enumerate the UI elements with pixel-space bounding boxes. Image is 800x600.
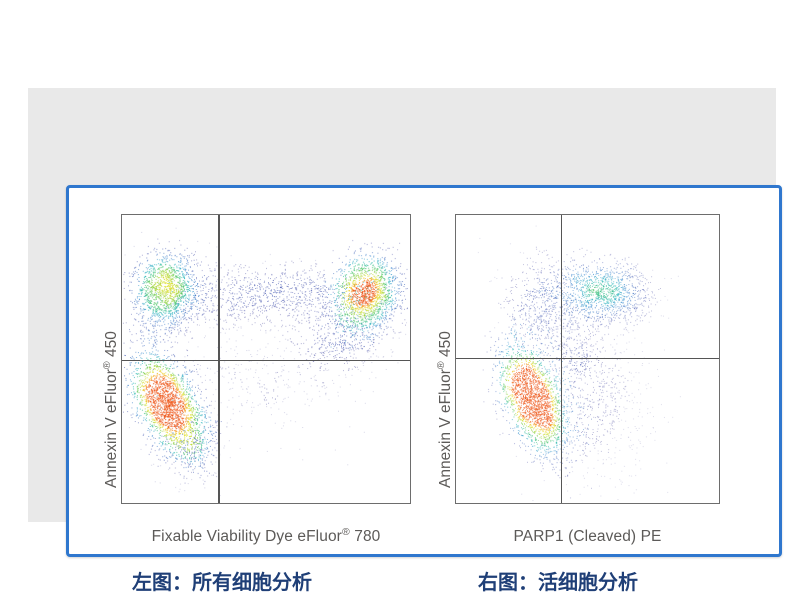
- registered-mark-icon: ®: [435, 361, 447, 369]
- y-axis-label-text-right: Annexin V eFluor: [437, 369, 454, 488]
- x-axis-label-all-cells: Fixable Viability Dye eFluor® 780: [121, 528, 411, 546]
- x-axis-label-text-right: PARP1 (Cleaved) PE: [514, 528, 662, 545]
- plot-panel-all-cells: Fixable Viability Dye eFluor® 780 Annexi…: [69, 188, 429, 554]
- flow-cytometry-card: Fixable Viability Dye eFluor® 780 Annexi…: [66, 185, 782, 557]
- dotplot-all-cells[interactable]: [121, 214, 411, 504]
- figure-background-panel: Fixable Viability Dye eFluor® 780 Annexi…: [28, 88, 776, 522]
- caption-left-plot: 左图：所有细胞分析: [132, 566, 312, 595]
- x-axis-label-live-cells: PARP1 (Cleaved) PE: [455, 528, 720, 546]
- y-axis-label-suffix-left: 450: [103, 331, 120, 361]
- y-axis-label-suffix-right: 450: [437, 331, 454, 361]
- plot-panel-live-cells: PARP1 (Cleaved) PE Annexin V eFluor® 450: [429, 188, 779, 554]
- registered-mark-icon: ®: [101, 361, 113, 369]
- dotplot-live-cells[interactable]: [455, 214, 720, 504]
- caption-right-plot: 右图：活细胞分析: [478, 566, 638, 595]
- y-axis-label-live-cells: Annexin V eFluor® 450: [437, 331, 455, 488]
- y-axis-label-all-cells: Annexin V eFluor® 450: [103, 331, 121, 488]
- y-axis-label-text-left: Annexin V eFluor: [103, 369, 120, 488]
- figure-root: Fixable Viability Dye eFluor® 780 Annexi…: [0, 0, 800, 600]
- x-axis-label-suffix-left: 780: [350, 528, 381, 545]
- x-axis-label-text-left: Fixable Viability Dye eFluor: [152, 528, 342, 545]
- quadrant-divider-horizontal-left: [122, 360, 410, 362]
- quadrant-divider-horizontal-right: [456, 358, 719, 360]
- caption-row: 左图：所有细胞分析 右图：活细胞分析: [66, 566, 782, 600]
- registered-mark-icon: ®: [342, 526, 350, 538]
